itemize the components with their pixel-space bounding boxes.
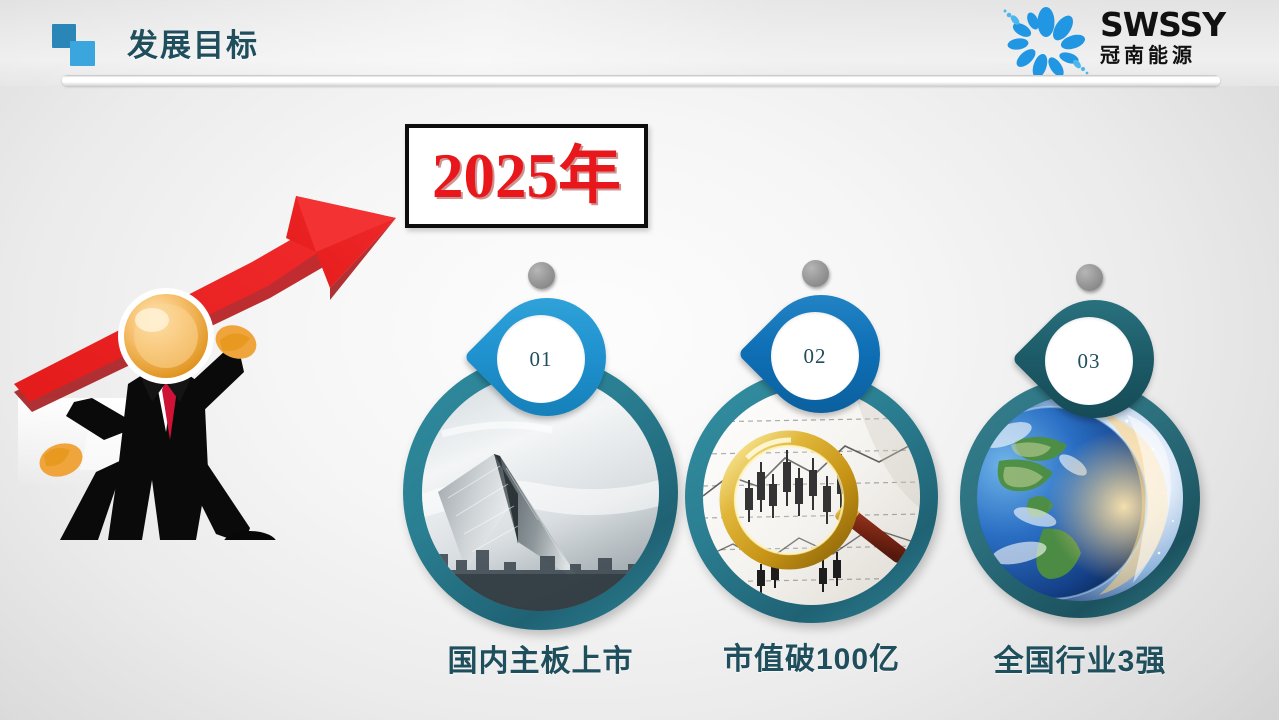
goal-number-02: 02: [771, 344, 859, 369]
goal-items: 01 国内主板上市: [0, 0, 1279, 720]
pin-head-02: [802, 260, 829, 287]
goal-caption-03: 全国行业3强: [960, 636, 1200, 680]
earth-from-space-photo: [977, 395, 1183, 601]
goal-caption-02: 市值破100亿: [685, 634, 938, 678]
pin-head-01: [528, 262, 555, 289]
magnifier-stock-chart-photo: [703, 388, 920, 605]
year-badge: 2025年: [405, 124, 648, 228]
slide-development-goals: 发展目标: [0, 0, 1279, 720]
goal-number-01: 01: [497, 347, 585, 372]
goal-caption-01: 国内主板上市: [403, 636, 678, 680]
year-label: 2025年: [432, 145, 621, 208]
goal-number-03: 03: [1045, 349, 1133, 374]
pin-head-03: [1076, 264, 1103, 291]
